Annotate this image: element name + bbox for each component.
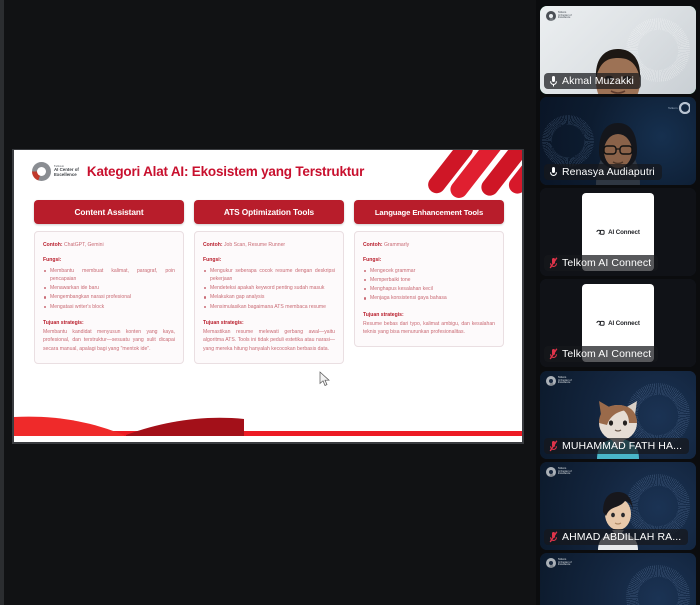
list-item: Menawarkan ide baru <box>43 284 175 292</box>
card-body: Contoh: Grammarly Fungsi: Mengecek gramm… <box>354 231 504 347</box>
contoh-value: Job Scan, Resume Runner <box>224 242 285 248</box>
participant-name: Akmal Muzakki <box>562 75 634 87</box>
contoh-label: Contoh: <box>43 242 63 248</box>
list-item: Mengembangkan narasi profesional <box>43 293 175 301</box>
logo-line-3: Excellence <box>558 564 572 567</box>
card-header: Language Enhancement Tools <box>354 200 504 224</box>
tile-brand-logo: Telkom AI Center of Excellence <box>546 558 572 568</box>
participant-tile-ahmad-abdillah[interactable]: Telkom AI Center of Excellence <box>540 462 696 550</box>
list-item: Mengecek grammar <box>363 267 495 275</box>
contoh-row: Contoh: ChatGPT, Gemini <box>43 241 175 249</box>
tujuan-text: Memastikan resume melewati gerbang awal—… <box>203 328 335 353</box>
participant-name: Renasya Audiaputri <box>562 166 655 178</box>
logo-line-3: Excellence <box>558 17 572 20</box>
list-item: Memperbaiki tone <box>363 276 495 284</box>
contoh-row: Contoh: Grammarly <box>363 241 495 249</box>
tujuan-label: Tujuan strategis: <box>43 319 175 327</box>
logo-ring-icon <box>546 376 556 386</box>
participant-name: Telkom AI Connect <box>562 348 651 360</box>
mic-on-icon <box>549 75 558 87</box>
tujuan-label: Tujuan strategis: <box>203 319 335 327</box>
presentation-slide[interactable]: Telkom AI Center of Excellence Kategori … <box>14 150 522 442</box>
participant-name: Telkom AI Connect <box>562 257 651 269</box>
participant-rail[interactable]: Telkom AI Center of Excellence Akmal Mu <box>536 0 700 605</box>
contoh-label: Contoh: <box>363 242 383 248</box>
stage-left-edge <box>0 0 4 605</box>
mic-muted-icon <box>549 531 558 543</box>
nameplate: MUHAMMAD FATH HA... <box>544 438 689 454</box>
fungsi-label: Fungsi: <box>363 256 495 264</box>
slide-header: Telkom AI Center of Excellence Kategori … <box>32 162 364 181</box>
list-item: Mengatasi writer's block <box>43 303 175 311</box>
mic-on-icon <box>549 166 558 178</box>
logo-ring-icon <box>546 558 556 568</box>
slide-bottom-wave-decoration <box>14 411 244 436</box>
logo-line-3: Excellence <box>54 173 79 178</box>
shared-screen-stage[interactable]: Telkom AI Center of Excellence Kategori … <box>0 0 536 605</box>
card-content-assistant[interactable]: Content Assistant Contoh: ChatGPT, Gemin… <box>34 200 184 364</box>
category-cards: Content Assistant Contoh: ChatGPT, Gemin… <box>34 200 504 364</box>
nameplate: Akmal Muzakki <box>544 73 641 89</box>
fungsi-label: Fungsi: <box>43 256 175 264</box>
participant-tile-muhammad-fath[interactable]: Telkom AI Center of Excellence <box>540 371 696 459</box>
participant-name: MUHAMMAD FATH HA... <box>562 440 682 452</box>
telkom-aicoe-logo: Telkom AI Center of Excellence <box>32 162 79 181</box>
list-item: Melakukan gap analysis <box>203 293 335 301</box>
tile-brand-logo: Telkom AI Center of Excellence <box>546 11 572 21</box>
list-item: Mensimulasikan bagaimana ATS membaca res… <box>203 303 335 311</box>
tujuan-label: Tujuan strategis: <box>363 311 495 319</box>
svg-text:Telkom: Telkom <box>668 106 678 110</box>
ai-connect-label: AI Connect <box>608 229 640 236</box>
nameplate: Telkom AI Connect <box>544 346 658 362</box>
contoh-value: Grammarly <box>384 242 409 248</box>
tile-brand-logo: Telkom AI Center of Excellence <box>546 376 572 386</box>
card-body: Contoh: ChatGPT, Gemini Fungsi: Membantu… <box>34 231 184 364</box>
participant-tile-akmal-muzakki[interactable]: Telkom AI Center of Excellence Akmal Mu <box>540 6 696 94</box>
slide-title: Kategori Alat AI: Ekosistem yang Terstru… <box>87 164 364 179</box>
tujuan-text: Membantu kandidat menyusun konten yang k… <box>43 328 175 353</box>
ai-connect-label: AI Connect <box>608 320 640 327</box>
ai-connect-icon <box>596 228 605 237</box>
logo-ring-icon <box>546 467 556 477</box>
mic-muted-icon <box>549 440 558 452</box>
ai-connect-icon <box>596 319 605 328</box>
participant-name: AHMAD ABDILLAH RA... <box>562 531 681 543</box>
tile-brand-logo: Telkom AI Center of Excellence <box>546 467 572 477</box>
list-item: Mengukur seberapa cocok resume dengan de… <box>203 267 335 284</box>
logo-line-3: Excellence <box>558 473 572 476</box>
participant-tile-janu-farras-saguna[interactable]: Telkom AI Center of Excellence JANU FARR… <box>540 553 696 605</box>
contoh-value: ChatGPT, Gemini <box>64 242 104 248</box>
card-body: Contoh: Job Scan, Resume Runner Fungsi: … <box>194 231 344 364</box>
contoh-label: Contoh: <box>203 242 223 248</box>
logo-line-3: Excellence <box>558 382 572 385</box>
card-language-enhancement-tools[interactable]: Language Enhancement Tools Contoh: Gramm… <box>354 200 504 364</box>
card-header: ATS Optimization Tools <box>194 200 344 224</box>
card-header: Content Assistant <box>34 200 184 224</box>
participant-tile-renasya-audiaputri[interactable]: Telkom Renasya Audiaputri <box>540 97 696 185</box>
fungsi-list: Mengecek grammar Memperbaiki tone Mengha… <box>363 267 495 303</box>
nameplate: Telkom AI Connect <box>544 255 658 271</box>
nameplate: AHMAD ABDILLAH RA... <box>544 529 688 545</box>
fungsi-label: Fungsi: <box>203 256 335 264</box>
contoh-row: Contoh: Job Scan, Resume Runner <box>203 241 335 249</box>
mic-muted-icon <box>549 257 558 269</box>
mic-muted-icon <box>549 348 558 360</box>
nameplate: Renasya Audiaputri <box>544 164 662 180</box>
card-ats-optimization-tools[interactable]: ATS Optimization Tools Contoh: Job Scan,… <box>194 200 344 364</box>
list-item: Menghapus kesalahan kecil <box>363 285 495 293</box>
participant-tile-telkom-ai-connect-1[interactable]: AI Connect Telkom AI Connect <box>540 188 696 276</box>
video-conference-window: Telkom AI Center of Excellence Kategori … <box>0 0 700 605</box>
fungsi-list: Membantu membuat kalimat, paragraf, poin… <box>43 267 175 311</box>
logo-ring-icon <box>32 162 51 181</box>
logo-ring-icon <box>546 11 556 21</box>
participant-tile-telkom-ai-connect-2[interactable]: AI Connect Telkom AI Connect <box>540 279 696 367</box>
fungsi-list: Mengukur seberapa cocok resume dengan de… <box>203 267 335 311</box>
mouse-cursor <box>319 371 331 387</box>
tujuan-text: Resume bebas dari typo, kalimat ambigu, … <box>363 320 495 337</box>
list-item: Mendeteksi apakah keyword penting sudah … <box>203 284 335 292</box>
tile-corner-logo: Telkom <box>668 102 690 114</box>
list-item: Menjaga konsistensi gaya bahasa <box>363 294 495 302</box>
list-item: Membantu membuat kalimat, paragraf, poin… <box>43 267 175 284</box>
